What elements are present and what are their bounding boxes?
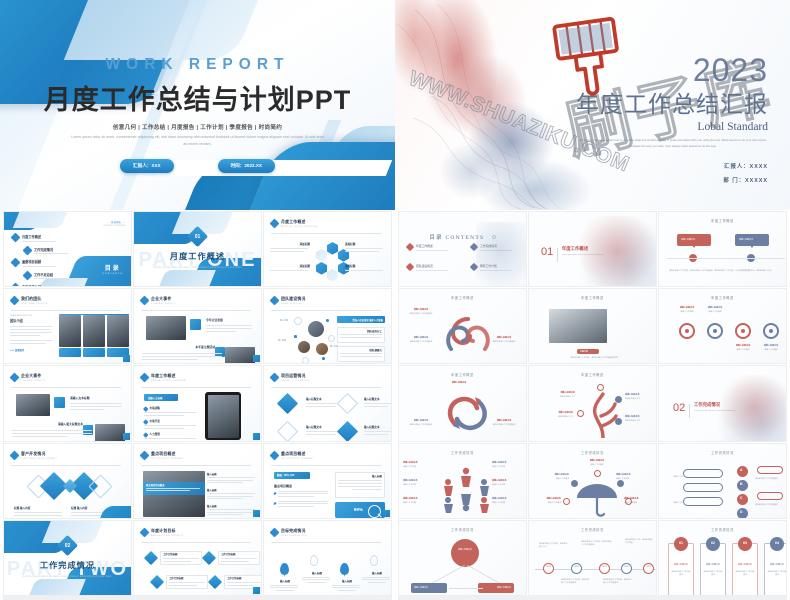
thumb-red-triangle[interactable]: 工作完成情况 请输入标题文本 请输入标题文本 请输入标题文本 请在此处输入文本内… [398, 520, 527, 596]
toc-item-list: 月度工作概述 工作完成情况 重要项目回顾 工作不足总结 未来工作计划 [12, 234, 68, 287]
team-banner-label: 增加人员及培训 强化人才储备 [353, 318, 384, 322]
diamond-bullet-icon [10, 373, 20, 383]
thumb-goal-completion[interactable]: 目标完成情况GOAL COMPLETION 输入标题 输入标题 [263, 520, 392, 596]
blue-cover-text-block: WORK REPORT 月度工作总结与计划PPT 创意几何 | 工作总结 | 月… [0, 56, 395, 173]
blue-template-panel: WORK REPORT 月度工作总结与计划PPT 创意几何 | 工作总结 | 月… [0, 0, 395, 600]
thumb-red-tree[interactable]: 年度工作概述 请输入标题文本请在此处输入文本 请输入标题文本请在此处输入文本 请… [528, 365, 657, 441]
thumb-title: 重点项目概述 [281, 451, 314, 457]
timeline-node [571, 563, 582, 574]
overview-item: 市场战略 [150, 406, 160, 410]
thumb-subtitle: ANNUAL PLAN TARGETS [151, 535, 183, 537]
umbrella-node [563, 498, 570, 505]
blue-thumbnail-grid: 目录 CONTENTS 月度工作概述 工作完成情况 重要项目回顾 工作不足总结 [0, 210, 395, 600]
red-thumb-title: 工作完成情况 [659, 450, 786, 455]
team-node-label: 输入标题 [278, 339, 286, 342]
card-number: 04 [770, 541, 784, 545]
spiral-label: 请输入标题文本 [405, 337, 437, 341]
cover-keywords: 创意几何 | 工作总结 | 月度报告 | 工作计划 | 季度报告 | 时尚简约 [0, 123, 395, 131]
red-thumb-title: 年度工作概述 [399, 295, 526, 300]
tablet-device-frame [205, 392, 241, 440]
kp2-title: 重点项目概述 [274, 484, 292, 488]
umbrella-label: 请输入标题文本 [616, 474, 644, 478]
timeline-node [621, 563, 632, 574]
red-thumb-title: 工作完成情况 [529, 527, 656, 532]
date-pill[interactable]: 时间：2022.XX [218, 159, 275, 173]
toc-item-label: 未来工作计划 [22, 284, 56, 287]
step-badge-label: C [740, 496, 742, 500]
thumb-red-two-tags[interactable]: 年度工作概述 请输入标题文本 请输入标题文本 请在此处输入文本内容，请在此处输入… [658, 211, 787, 287]
plan-label: 工作计划标题 [221, 552, 235, 556]
project-icon-diamond [277, 393, 298, 414]
team-card-title: 团队成员分工 [367, 329, 382, 333]
timeline-node [599, 563, 610, 574]
project-label: 输入标题文本 [364, 397, 392, 401]
thumb-subtitle: CUSTOMER DEVELOPMENT [21, 458, 57, 460]
spiral-label: 请输入标题文本 [488, 337, 520, 341]
thumb-toc[interactable]: 目录 CONTENTS 月度工作概述 工作完成情况 重要项目回顾 工作不足总结 [3, 211, 132, 287]
red-thumb-title: 工作完成情况 [529, 450, 656, 455]
cover-title: 年度工作总结汇报 [576, 85, 768, 119]
umbrella-label: 请输入标题文本 [533, 498, 561, 502]
hex-icon [327, 269, 338, 282]
thumb-red-toc[interactable]: 目录 CONTENTS 年度工作概述 工作完成情况 团队建设情况 [398, 211, 527, 287]
diamond-bullet-icon [270, 373, 280, 383]
red-template-panel: 2023 年度工作总结汇报 Lobal Standard A designer … [395, 0, 790, 600]
thumb-annual-overview[interactable]: 年度工作概述ANNUAL WORK OVERVIEW 请输入主标题 市场战略 市… [133, 365, 262, 441]
thumb-title: 客户开发情况 [21, 451, 57, 457]
team-more-link[interactable]: +++ 查看更多 [10, 348, 54, 352]
red-thumb-title: 年度工作概述 [659, 218, 786, 223]
tag-label: 请输入标题文本 [739, 238, 753, 241]
thumb-red-cards4[interactable]: 工作完成情况 01 请输入标题文本 请在此处输入文本内容描述 02 请输入标题文… [658, 520, 787, 596]
thumb-title: 重点项目概述 [151, 451, 184, 457]
thumb-section-02[interactable]: 02 PART TWO 工作完成情况 Lorem ipsum dolor sit… [3, 520, 132, 596]
project-icon-diamond [277, 421, 298, 441]
ppt-template-preview: WORK REPORT 月度工作总结与计划PPT 创意几何 | 工作总结 | 月… [0, 0, 790, 600]
spiral-label: 请输入标题文本 [405, 309, 437, 313]
thumb-subtitle: COMPANY EVENTS [151, 303, 176, 305]
timeline-node [543, 563, 554, 574]
event-photo [146, 316, 186, 340]
red-thumb-title: 年度工作概述 [399, 372, 526, 377]
event-photo [225, 347, 255, 364]
kp2-stat-value: 99% [354, 507, 363, 512]
red-thumb-title: 年度工作概述 [529, 295, 656, 300]
step-badge [737, 466, 748, 477]
cover-latin-title: Lobal Standard [576, 121, 768, 133]
team-intro-title: 团队介绍 [10, 318, 54, 323]
toc-item-label: 重要项目回顾 [22, 259, 56, 264]
card-number: 02 [706, 541, 720, 545]
diamond-bullet-icon [270, 219, 280, 229]
office-photo [549, 309, 607, 343]
thumb-subtitle: COMPANY EVENTS [21, 380, 46, 382]
team-photo [83, 315, 105, 347]
thumb-red-timeline[interactable]: 工作完成情况 2019 2020 2021 2022 2023 请在此处输入文本… [528, 520, 657, 596]
event-title: 请输入文本标题 [70, 396, 124, 400]
hex-label: 添加标题 [345, 264, 385, 268]
diamond-bullet-icon [140, 450, 150, 460]
project-item: 输入标题 [207, 472, 255, 478]
triangle-left-label: 请输入标题文本 [414, 586, 428, 589]
cover-year: 2023 [576, 52, 768, 89]
thumb-subtitle: ANNUAL WORK OVERVIEW [151, 380, 186, 382]
section-number-diamond: 02 [57, 535, 78, 556]
thumb-company-events-2[interactable]: 企业大事件COMPANY EVENTS 请输入文本标题 请输入最大标题文本 [3, 365, 132, 441]
cover-title: 月度工作总结与计划PPT [0, 78, 395, 117]
people-label: 请输入标题文本 [403, 462, 433, 466]
people-label: 请输入标题文本 [492, 480, 522, 484]
thumb-subtitle: PROJECT OPERATION [281, 380, 310, 382]
thumb-red-cycle[interactable]: 年度工作概述 请输入标题文本 请输入标题文本请在此处输入文本内容描述 请输入标题… [398, 365, 527, 441]
red-thumb-title: 年度工作概述 [529, 372, 656, 377]
thumb-title: 企业大事件 [21, 373, 46, 379]
thumb-red-photo[interactable]: 年度工作概述 标题内容 请在此处输入文本内容，请在此处输入文本内容描述信息。 [528, 288, 657, 364]
hex-icon [316, 249, 327, 262]
thumb-red-steps[interactable]: 工作完成情况 A B C D 请在此处输入文本内容描述 请在此处输入文本内容描述… [658, 443, 787, 519]
project-icon-diamond [337, 421, 358, 441]
plan-label: 工作计划标题 [169, 576, 183, 580]
thumb-title: 团队建设情况 [281, 296, 306, 302]
thumb-team-building[interactable]: 团队建设情况TEAM BUILDING 输入标题 输入标题 输入标题 输入标题 … [263, 288, 392, 364]
thumb-red-spiral[interactable]: 年度工作概述 请输入标题文本请在此处输入文本内容描述 请输入标题文本请在此处输入… [398, 288, 527, 364]
hex-label: 添加标题 [270, 264, 310, 268]
people-label: 请输入标题文本 [403, 480, 433, 484]
umbrella-label: 请输入标题文本 [579, 460, 615, 464]
red-toc-marker [406, 263, 414, 271]
timeline-year: 2022 [622, 566, 631, 568]
map-pin-icon [310, 555, 318, 566]
arrow-label: 请输入标题文本 [701, 307, 729, 311]
team-caption [83, 348, 105, 357]
thumb-subtitle: OUR TEAM PROFILE [21, 303, 48, 305]
thumb-title: 目标完成情况 [281, 528, 307, 534]
toc-item-label: 月度工作概述 [22, 234, 56, 239]
red-toc-marker [406, 243, 414, 251]
branch-icon [583, 386, 623, 438]
project-label: 输入标题文本 [364, 425, 392, 429]
people-label: 请输入标题文本 [492, 462, 522, 466]
thumb-subtitle: TEAM BUILDING [281, 303, 306, 305]
diamond-bullet-icon [140, 373, 150, 383]
timeline-year: 2023 [644, 566, 653, 568]
section-number-diamond: 01 [187, 226, 208, 247]
red-thumbnail-grid: 目录 CONTENTS 年度工作概述 工作完成情况 团队建设情况 [395, 210, 790, 600]
step-badge-label: B [740, 482, 742, 486]
cover-eyebrow: WORK REPORT [0, 56, 395, 74]
cycle-arrows-icon [439, 390, 495, 436]
plan-icon-diamond [202, 551, 216, 565]
team-caption [59, 348, 81, 357]
overview-banner-label: 请输入主标题 [148, 396, 162, 400]
hex-icon [316, 262, 327, 275]
team-card-title: 团队凝聚力 [369, 348, 382, 352]
team-photo [59, 315, 81, 347]
project-item: 输入标题 [207, 488, 255, 494]
thumb-red-umbrella[interactable]: 工作完成情况 请输入标题文本请输入文本描述 请输入标题文本请输入文本描述 请输入… [528, 443, 657, 519]
plan-icon-diamond [150, 575, 164, 589]
presenter-pill[interactable]: 汇报人：XXX [120, 159, 174, 173]
thumb-plan-targets[interactable]: 年度计划目标ANNUAL PLAN TARGETS 工作计划标题 工作计划标题 … [133, 520, 262, 596]
cover-presenter: 汇报人：XXXX [576, 161, 768, 175]
overview-item: 市场开发 [150, 419, 160, 423]
red-toc-item: 年度工作概述 [416, 244, 448, 248]
team-photo [107, 315, 129, 347]
goal-label: 输入标题 [270, 579, 300, 583]
red-section-number: 02 [673, 402, 685, 414]
diamond-bullet-icon [10, 296, 20, 306]
section-title: 月度工作概述 [134, 250, 261, 262]
umbrella-label: 请输入标题文本 [541, 474, 569, 478]
diamond-bullet-icon [140, 296, 150, 306]
diamond-bullet-icon [140, 527, 150, 537]
red-cover-text-block: 2023 年度工作总结汇报 Lobal Standard A designer … [576, 52, 768, 188]
event-icon-badge [54, 397, 65, 408]
spiral-triad-icon [441, 313, 495, 359]
hex-icon [327, 242, 338, 255]
tag-label: 请输入标题文本 [681, 238, 695, 241]
blue-panel-footer-bar [3, 596, 392, 600]
toc-item-label: 工作不足总结 [34, 272, 68, 277]
thumb-red-arrows[interactable]: 年度工作概述 请输入标题文本请输入文本描述 请输入标题文本请输入文本描述 请输入… [658, 288, 787, 364]
plan-icon-diamond [144, 551, 158, 565]
thumb-subtitle: MONTHLY WORK OVERVIEW [281, 226, 318, 228]
timeline-year: 2021 [600, 566, 609, 568]
event-photo [16, 394, 50, 416]
tree-label: 请输入标题文本 [625, 416, 655, 420]
arrow-label: 请输入标题文本 [729, 345, 757, 349]
thumb-our-team[interactable]: 我们的团队OUR TEAM PROFILE TEAM INTRODUCTION … [3, 288, 132, 364]
toc-item-label: 工作完成情况 [34, 247, 68, 252]
thumb-red-section-02[interactable]: 02 工作完成情况 Lorem ipsum dolor sit amet con… [658, 365, 787, 441]
timeline-node [643, 563, 654, 574]
thumb-customer-development[interactable]: 客户开发情况CUSTOMER DEVELOPMENT 标题 输入内容 标题 输入… [3, 443, 132, 519]
diamond-bullet-icon [270, 296, 280, 306]
hex-label: 添加标题 [345, 242, 385, 246]
map-pin-icon [370, 555, 378, 566]
thumb-key-projects[interactable]: 重点项目概述KEY PROJECT SUMMARY 重点项目情况概述 输入标题 … [133, 443, 262, 519]
thumb-title: 月度工作概述 [281, 219, 318, 225]
people-label: 请输入标题文本 [403, 498, 433, 502]
people-label: 请输入标题文本 [492, 498, 522, 502]
cover-pill-row: 汇报人：XXX 时间：2022.XX [0, 159, 395, 173]
diamond-bullet-icon [270, 450, 280, 460]
red-section-number: 01 [541, 246, 553, 258]
thumb-title: 年度计划目标 [151, 528, 183, 534]
tree-label: 请输入标题文本 [625, 394, 655, 398]
diamond-bullet-icon [270, 527, 280, 537]
event-icon-badge [190, 319, 201, 330]
cover-department: 部 门：XXXXX [576, 175, 768, 189]
diamond-bullet-icon [10, 450, 20, 460]
thumb-key-projects-2[interactable]: 重点项目概述KEY PROJECT SUMMARY 数据：88%, 000 重点… [263, 443, 392, 519]
team-avatar [308, 321, 324, 337]
plan-icon-diamond [208, 575, 222, 589]
arrow-label: 请输入标题文本 [757, 345, 785, 349]
event-title: 本年度主题活动 [167, 345, 215, 349]
umbrella-node [571, 480, 578, 487]
thumb-project-operation[interactable]: 项目运营情况PROJECT OPERATION 输入标题文本 输入标题文本 输入… [263, 365, 392, 441]
thumb-red-section-01[interactable]: 01 年度工作概述 Lorem ipsum dolor sit amet con… [528, 211, 657, 287]
event-photo [95, 424, 125, 441]
cycle-label: 请输入标题文本 [439, 382, 479, 386]
triangle-top-label: 请输入标题文本 [453, 549, 477, 552]
timeline-year: 2019 [544, 566, 553, 568]
toc-title: 目录 [102, 263, 123, 272]
kp2-card-title: 输入标题 [372, 474, 382, 478]
thumb-title: 我们的团队 [21, 296, 48, 302]
project-caption-title: 重点项目情况概述 [146, 483, 164, 487]
event-title: 今年企业发展 [206, 318, 254, 322]
customer-label: 标题 输入内容 [14, 506, 64, 510]
hex-label: 添加标题 [270, 242, 310, 246]
cover-paragraph: A designer can use default text to simul… [578, 137, 768, 149]
card-number: 03 [738, 541, 752, 545]
thumb-header: 月度工作概述MONTHLY WORK OVERVIEW [271, 219, 318, 228]
cycle-label: 请输入标题文本 [405, 420, 437, 424]
cycle-label: 请输入标题文本 [488, 420, 520, 424]
team-node-label: 输入标题 [280, 319, 288, 322]
arrow-label: 请输入标题文本 [673, 307, 701, 311]
red-thumb-title: 工作完成情况 [399, 527, 526, 532]
card-number: 01 [674, 541, 688, 545]
red-panel-footer-bar [398, 596, 787, 600]
step-badge-label: A [740, 468, 742, 472]
red-toc-item: 团队建设情况 [416, 264, 448, 268]
section-title: 工作完成情况 [4, 559, 131, 571]
triangle-top-node [451, 539, 479, 567]
overview-item: 人力管理 [150, 432, 160, 436]
event-title: 请输入最大标题文本 [33, 422, 83, 426]
step-badge-label: D [740, 510, 742, 514]
blue-cover-slide[interactable]: WORK REPORT 月度工作总结与计划PPT 创意几何 | 工作总结 | 月… [0, 0, 395, 210]
goal-label: 输入标题 [332, 579, 362, 583]
team-avatar [316, 343, 328, 355]
thumb-subtitle: KEY PROJECT SUMMARY [281, 458, 314, 460]
thumb-red-people[interactable]: 工作完成情况 请输入 [398, 443, 527, 519]
goal-label: 输入标题 [362, 571, 392, 575]
umbrella-node [594, 470, 601, 477]
step-badge [737, 494, 748, 505]
tree-label: 请输入标题文本 [539, 412, 573, 416]
red-thumb-title: 年度工作概述 [659, 295, 786, 300]
triangle-right-label: 请输入标题文本 [497, 586, 511, 589]
thumb-section-01[interactable]: 01 PART ONE 月度工作概述 Lorem ipsum dolor sit… [133, 211, 262, 287]
goal-label: 输入标题 [302, 571, 332, 575]
project-item: 输入标题 [207, 504, 255, 510]
timeline-year: 2020 [572, 566, 581, 568]
thumb-subtitle: GOAL COMPLETION [281, 535, 307, 537]
team-node-label: 输入标题 [300, 363, 308, 364]
red-thumb-title: 工作完成情况 [659, 527, 786, 532]
thumb-title: 项目运营情况 [281, 373, 310, 379]
toc-subtitle: CONTENTS [102, 273, 123, 275]
photo-caption-label: 标题内容 [580, 350, 588, 353]
team-avatar [298, 341, 310, 353]
thumb-subtitle: KEY PROJECT SUMMARY [151, 458, 184, 460]
thumb-title: 年度工作概述 [151, 373, 186, 379]
thumb-overview-hex[interactable]: 月度工作概述MONTHLY WORK OVERVIEW 添加标题 [263, 211, 392, 287]
people-circle-icon [439, 464, 493, 514]
umbrella-label: 请输入标题文本 [624, 498, 652, 502]
step-badge [737, 480, 748, 491]
cover-lorem: Lorem ipsum dolor sit amet, consectetuer… [0, 134, 395, 148]
plan-label: 工作计划标题 [163, 552, 177, 556]
red-thumb-title: 工作完成情况 [399, 450, 526, 455]
plan-label: 工作计划标题 [227, 576, 241, 580]
step-badge [737, 508, 748, 519]
thumb-company-events[interactable]: 企业大事件COMPANY EVENTS 今年企业发展 本年度主题活动 [133, 288, 262, 364]
thumb-title: 企业大事件 [151, 296, 176, 302]
red-cover-slide[interactable]: 2023 年度工作总结汇报 Lobal Standard A designer … [395, 0, 790, 210]
tree-label: 请输入标题文本 [541, 392, 575, 396]
data-badge-label: 数据：88%, 000 [277, 473, 294, 477]
umbrella-icon [575, 480, 619, 518]
